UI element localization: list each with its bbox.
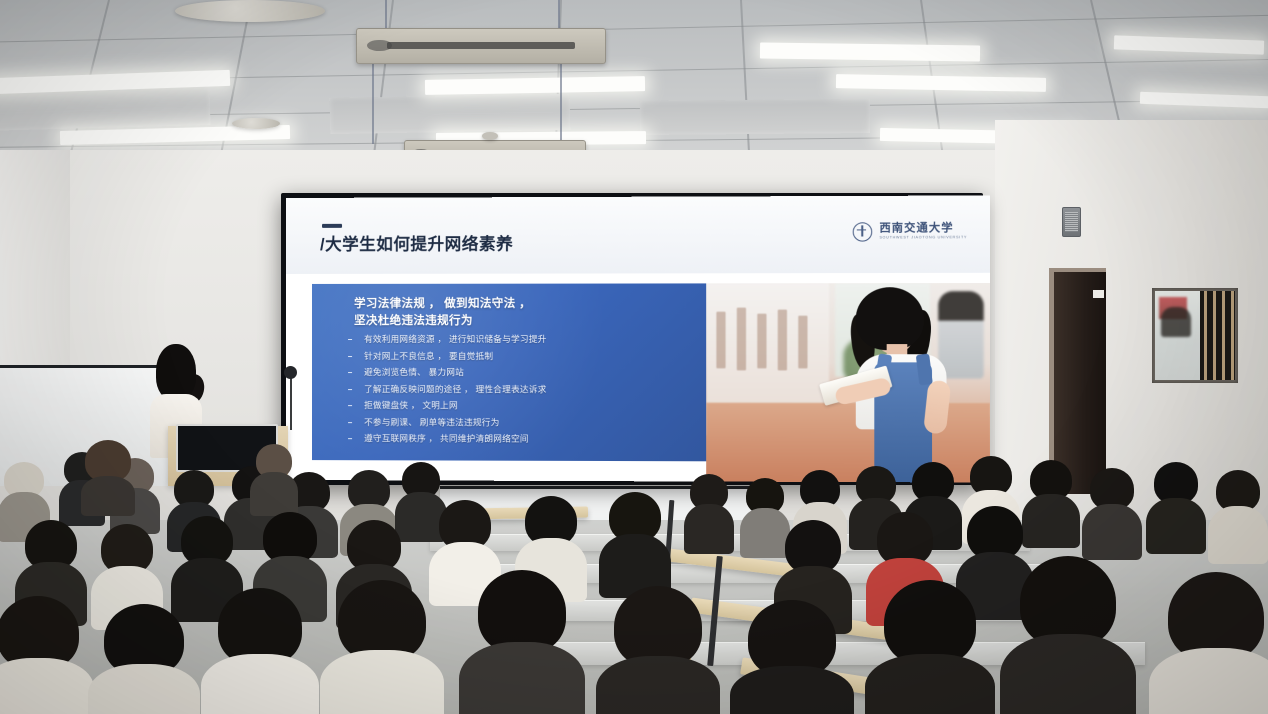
university-seal-icon [853, 222, 873, 241]
ceiling-light-panel [760, 42, 980, 61]
ceiling-light-panel [1114, 35, 1264, 54]
audience-member [470, 570, 574, 714]
list-item: 有效利用网络资源 ， 进行知识储备与学习提升 [340, 334, 700, 344]
interior-window [1152, 288, 1238, 383]
list-item: 拒做键盘侠 ， 文明上网 [340, 400, 700, 411]
audience-member [0, 596, 86, 714]
ceiling-light-panel [836, 74, 1046, 92]
ac-vent [356, 28, 606, 64]
presentation-screen[interactable]: /大学生如何提升网络素养 西南交通大学 SOUTHWEST JIAOTONG U… [286, 195, 990, 482]
slide-heading-line-1: 学习法律法规 ， 做到知法守法 ， [354, 296, 678, 314]
microphone-icon [284, 366, 297, 379]
smoke-detector-icon [482, 132, 498, 140]
audience-member [330, 580, 434, 714]
audience-member [252, 444, 296, 510]
list-item: 针对网上不良信息 ， 要自觉抵制 [340, 351, 700, 362]
slide-content-panel: 学习法律法规 ， 做到知法守法 ， 坚决杜绝违法违规行为 有效利用网络资源 ， … [312, 283, 706, 461]
slide-header: /大学生如何提升网络素养 西南交通大学 SOUTHWEST JIAOTONG U… [286, 195, 990, 274]
ceiling-speaker-icon [175, 0, 325, 22]
slide-heading: 学习法律法规 ， 做到知法守法 ， 坚决杜绝违法违规行为 [354, 296, 678, 331]
audience-member [82, 440, 134, 506]
photo-subject-student [827, 287, 971, 482]
audience-member [740, 600, 844, 714]
slide-photo [706, 283, 990, 483]
audience-member [210, 588, 310, 714]
slide-title: /大学生如何提升网络素养 [320, 230, 513, 255]
slide-bullet-list: 有效利用网络资源 ， 进行知识储备与学习提升 针对网上不良信息 ， 要自觉抵制 … [340, 334, 700, 451]
audience-member [1012, 556, 1124, 714]
audience-member [1150, 462, 1202, 542]
list-item: 不参与刷课、 刷单等违法违规行为 [340, 417, 700, 428]
list-item: 避免浏览色情、 暴力网站 [340, 367, 700, 378]
title-dash [322, 224, 342, 228]
audience-member [876, 580, 984, 714]
microphone-stand [290, 374, 292, 430]
ceiling-light-panel [1140, 92, 1268, 109]
lecture-hall-photo: /大学生如何提升网络素养 西南交通大学 SOUTHWEST JIAOTONG U… [0, 0, 1268, 714]
wall-speaker-icon [1062, 207, 1081, 237]
slide-heading-line-2: 坚决杜绝违法违规行为 [354, 313, 678, 330]
audience-member [1160, 572, 1268, 714]
audience-member [686, 474, 732, 548]
audience-member [604, 492, 666, 588]
list-item: 遵守互联网秩序 ， 共同维护清朗网络空间 [340, 433, 700, 444]
audience-member [1086, 468, 1138, 548]
audience-member [96, 604, 192, 714]
door-sign [1093, 290, 1104, 298]
list-item: 了解正确反映问题的途径 ， 理性合理表达诉求 [340, 384, 700, 395]
ceiling-speaker-icon [232, 118, 280, 129]
university-name-cn: 西南交通大学 [879, 223, 967, 234]
university-name-en: SOUTHWEST JIAOTONG UNIVERSITY [879, 236, 967, 240]
audience-member [606, 586, 710, 714]
audience-member [1212, 470, 1264, 552]
university-logo: 西南交通大学 SOUTHWEST JIAOTONG UNIVERSITY [853, 222, 968, 242]
audience-member [1026, 460, 1076, 538]
ceiling-light-panel [425, 76, 645, 95]
